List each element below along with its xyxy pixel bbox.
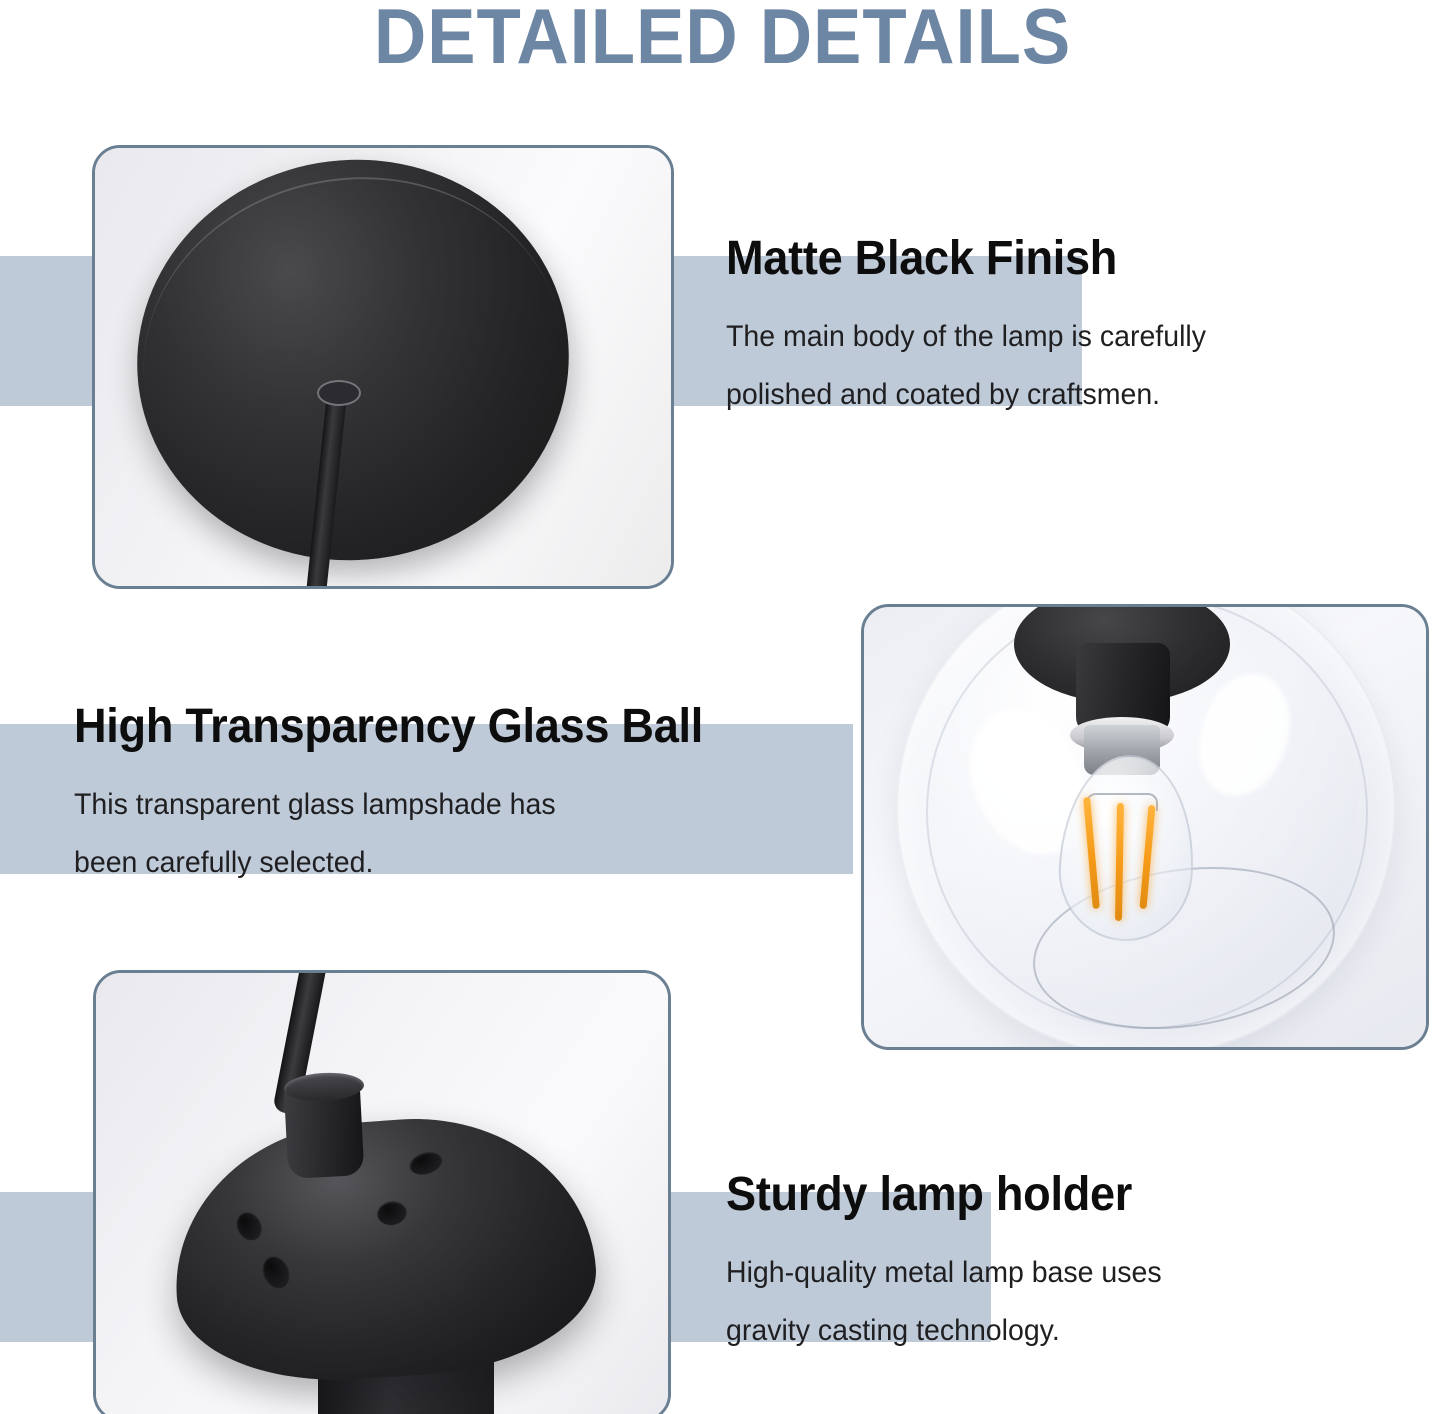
feature-heading: Matte Black Finish <box>726 232 1365 286</box>
feature-heading: High Transparency Glass Ball <box>74 700 817 754</box>
feature-description-line: This transparent glass lampshade has <box>74 776 825 835</box>
feature-description-line: The main body of the lamp is carefully <box>726 308 1372 367</box>
feature-description: The main body of the lamp is carefully p… <box>726 308 1372 425</box>
feature-description-line: High-quality metal lamp base uses <box>726 1244 1372 1303</box>
feature-heading: Sturdy lamp holder <box>726 1168 1365 1222</box>
feature-text-high-transparency-glass-ball: High Transparency Glass Ball This transp… <box>74 700 864 893</box>
feature-description: High-quality metal lamp base uses gravit… <box>726 1244 1372 1361</box>
feature-description-line: gravity casting technology. <box>726 1302 1372 1361</box>
canopy-hub <box>317 380 361 406</box>
page-title: DETAILED DETAILS <box>51 0 1395 78</box>
feature-text-matte-black-finish: Matte Black Finish The main body of the … <box>726 232 1406 425</box>
feature-image-sturdy-lamp-holder <box>93 970 671 1414</box>
feature-image-high-transparency-glass-ball <box>861 604 1429 1050</box>
feature-description-line: been carefully selected. <box>74 834 825 893</box>
glass-ball-photo <box>864 607 1426 1047</box>
feature-description: This transparent glass lampshade has bee… <box>74 776 825 893</box>
product-detail-infographic: DETAILED DETAILS <box>0 0 1445 1414</box>
feature-description-line: polished and coated by craftsmen. <box>726 366 1372 425</box>
feature-image-matte-black-finish <box>92 145 674 589</box>
canopy-photo <box>95 148 671 586</box>
lamp-holder-photo <box>96 973 668 1414</box>
feature-text-sturdy-lamp-holder: Sturdy lamp holder High-quality metal la… <box>726 1168 1406 1361</box>
